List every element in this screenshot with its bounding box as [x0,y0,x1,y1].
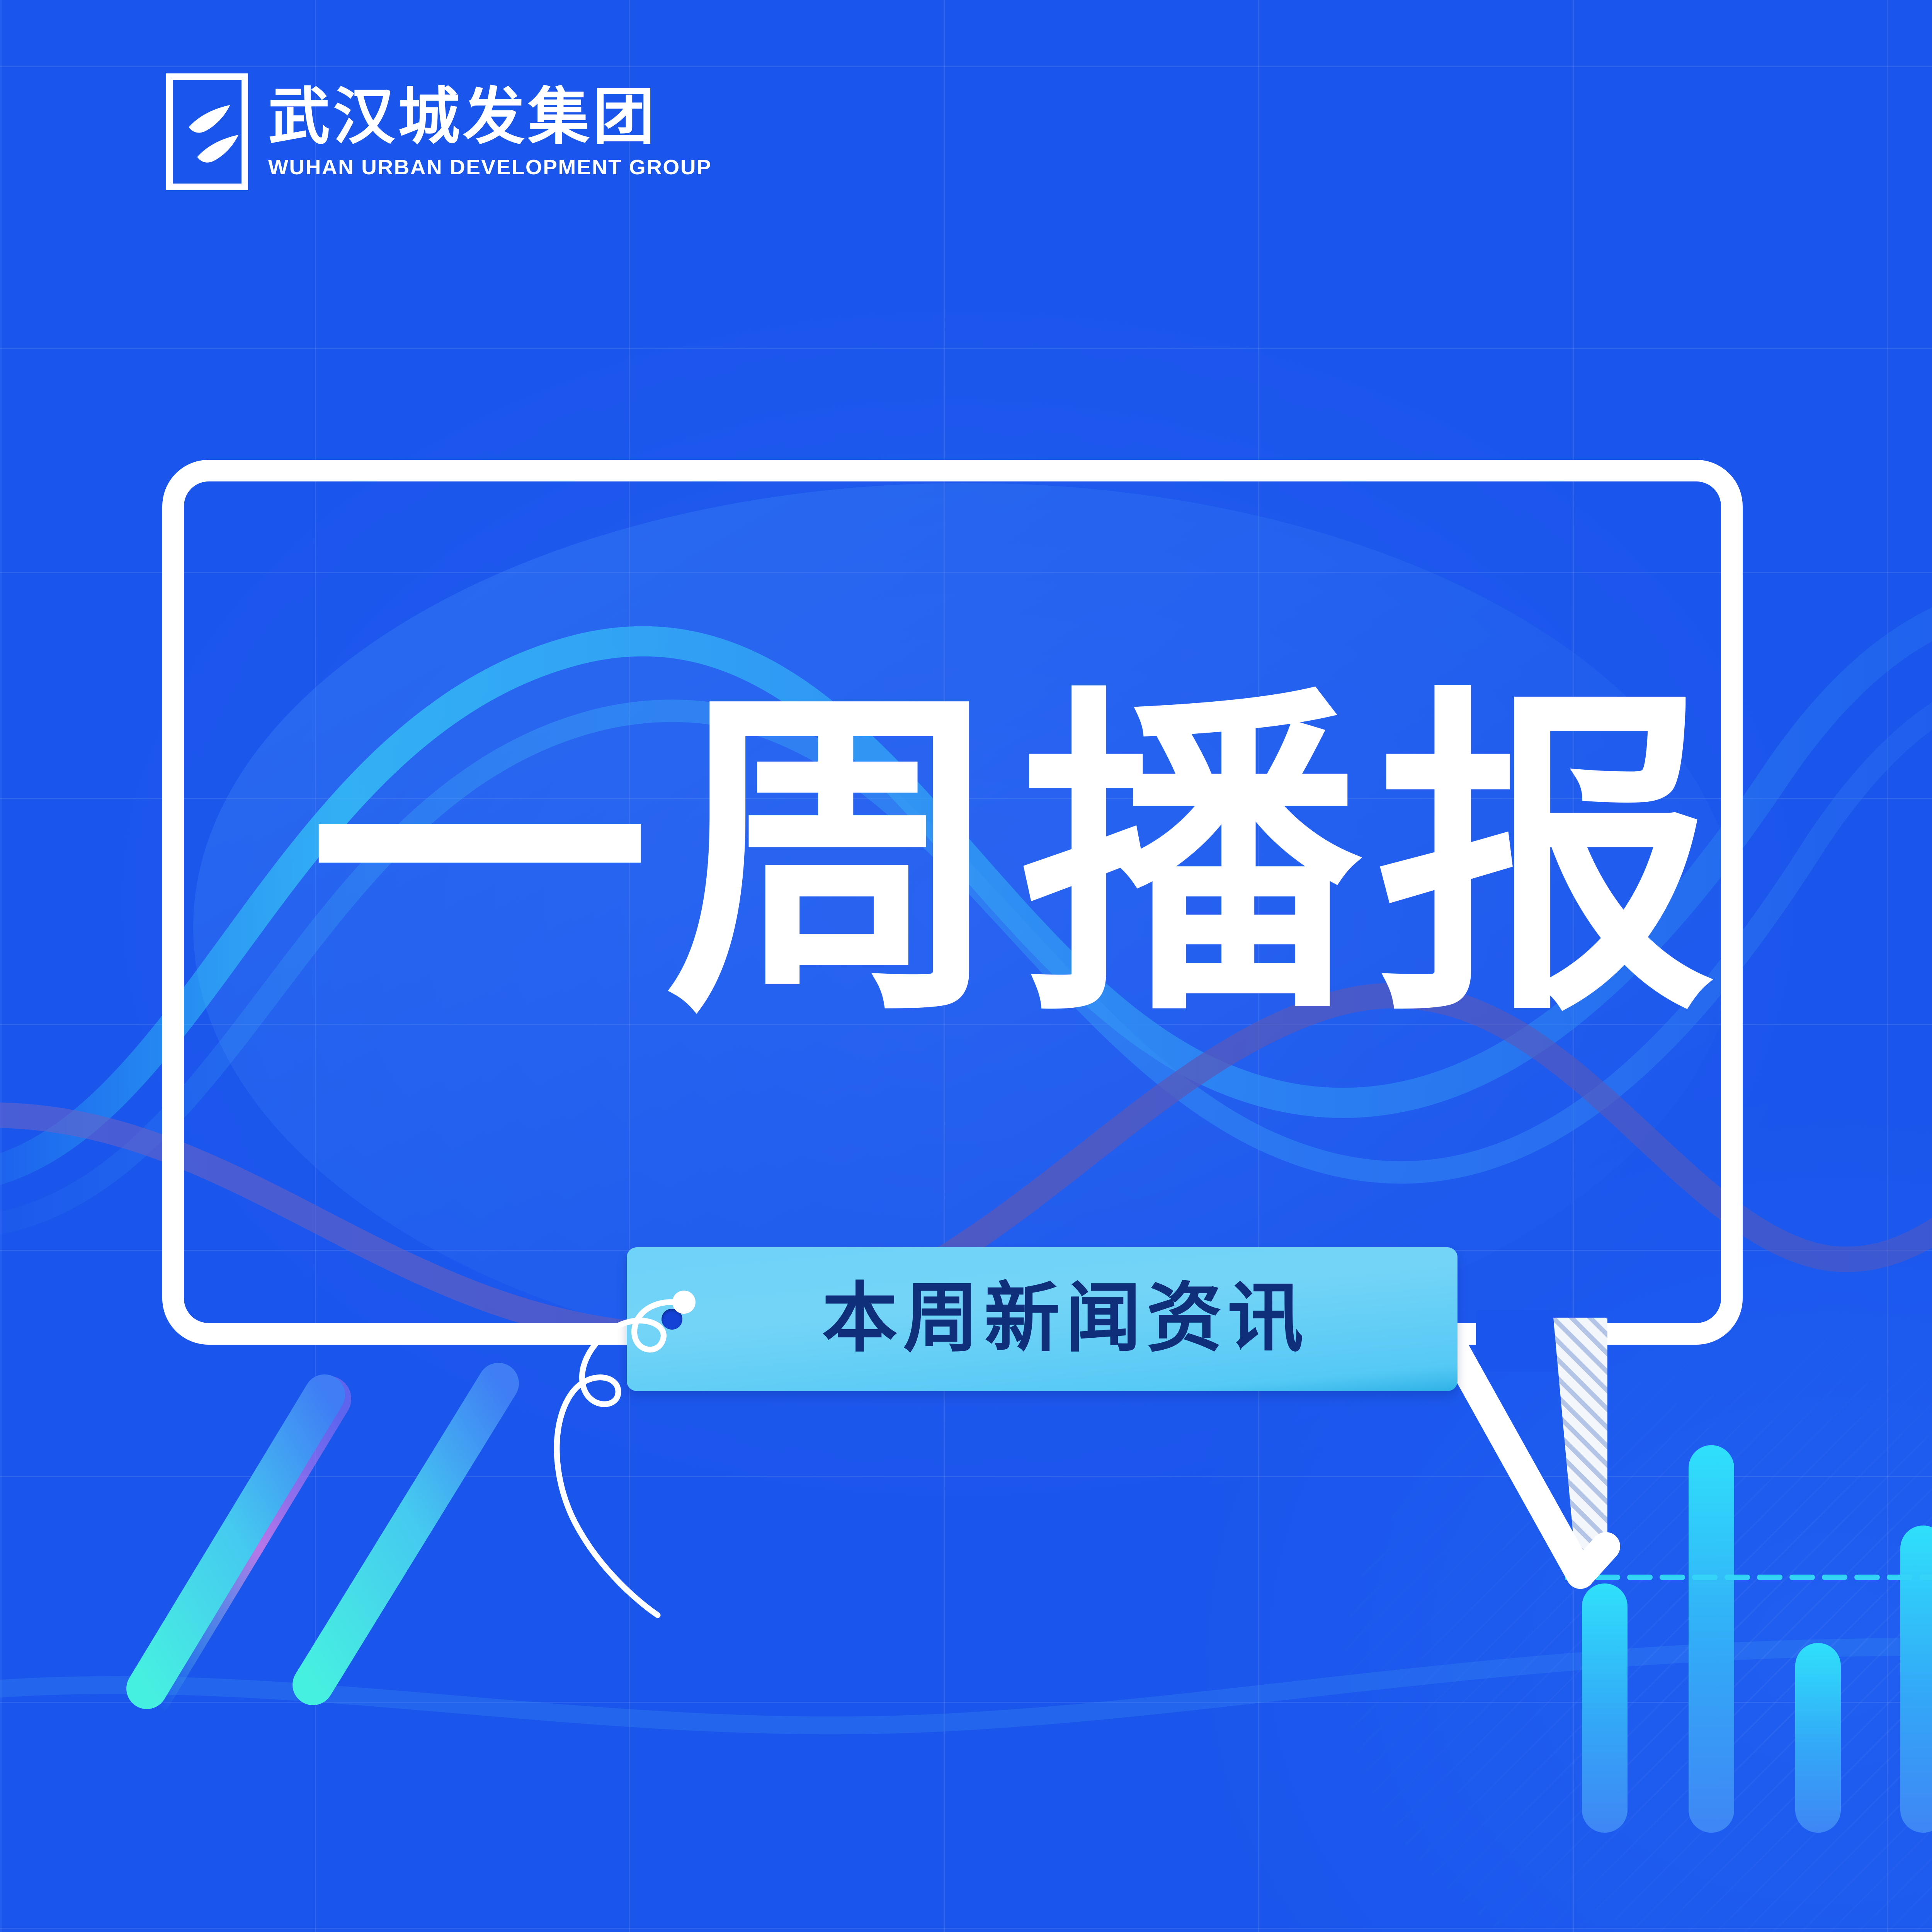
subtitle-text: 本周新闻资讯 [822,1281,1309,1357]
poster-canvas: 武汉城发集团 WUHAN URBAN DEVELOPMENT GROUP 一周播… [0,0,1932,1932]
subtitle-tag: 本周新闻资讯 [627,1247,1458,1391]
diagonal-bars-decoration [89,1345,591,1723]
bar-3 [1795,1643,1841,1833]
diagonal-bar-short [313,1383,498,1685]
page-title: 一周播报 [247,692,1793,1032]
diagonal-bar-long [147,1395,325,1689]
speech-bubble-tail [1426,1287,1673,1604]
bar-2 [1689,1445,1734,1833]
logo-wordmark: 武汉城发集团 WUHAN URBAN DEVELOPMENT GROUP [268,84,703,179]
logo-company-name-en: WUHAN URBAN DEVELOPMENT GROUP [268,155,712,179]
logo-company-name-cn: 武汉城发集团 [268,84,703,149]
logo-emblem-icon [166,73,248,190]
bar-1 [1582,1583,1628,1833]
brand-logo: 武汉城发集团 WUHAN URBAN DEVELOPMENT GROUP [166,73,703,190]
tag-hole-icon [662,1309,682,1330]
